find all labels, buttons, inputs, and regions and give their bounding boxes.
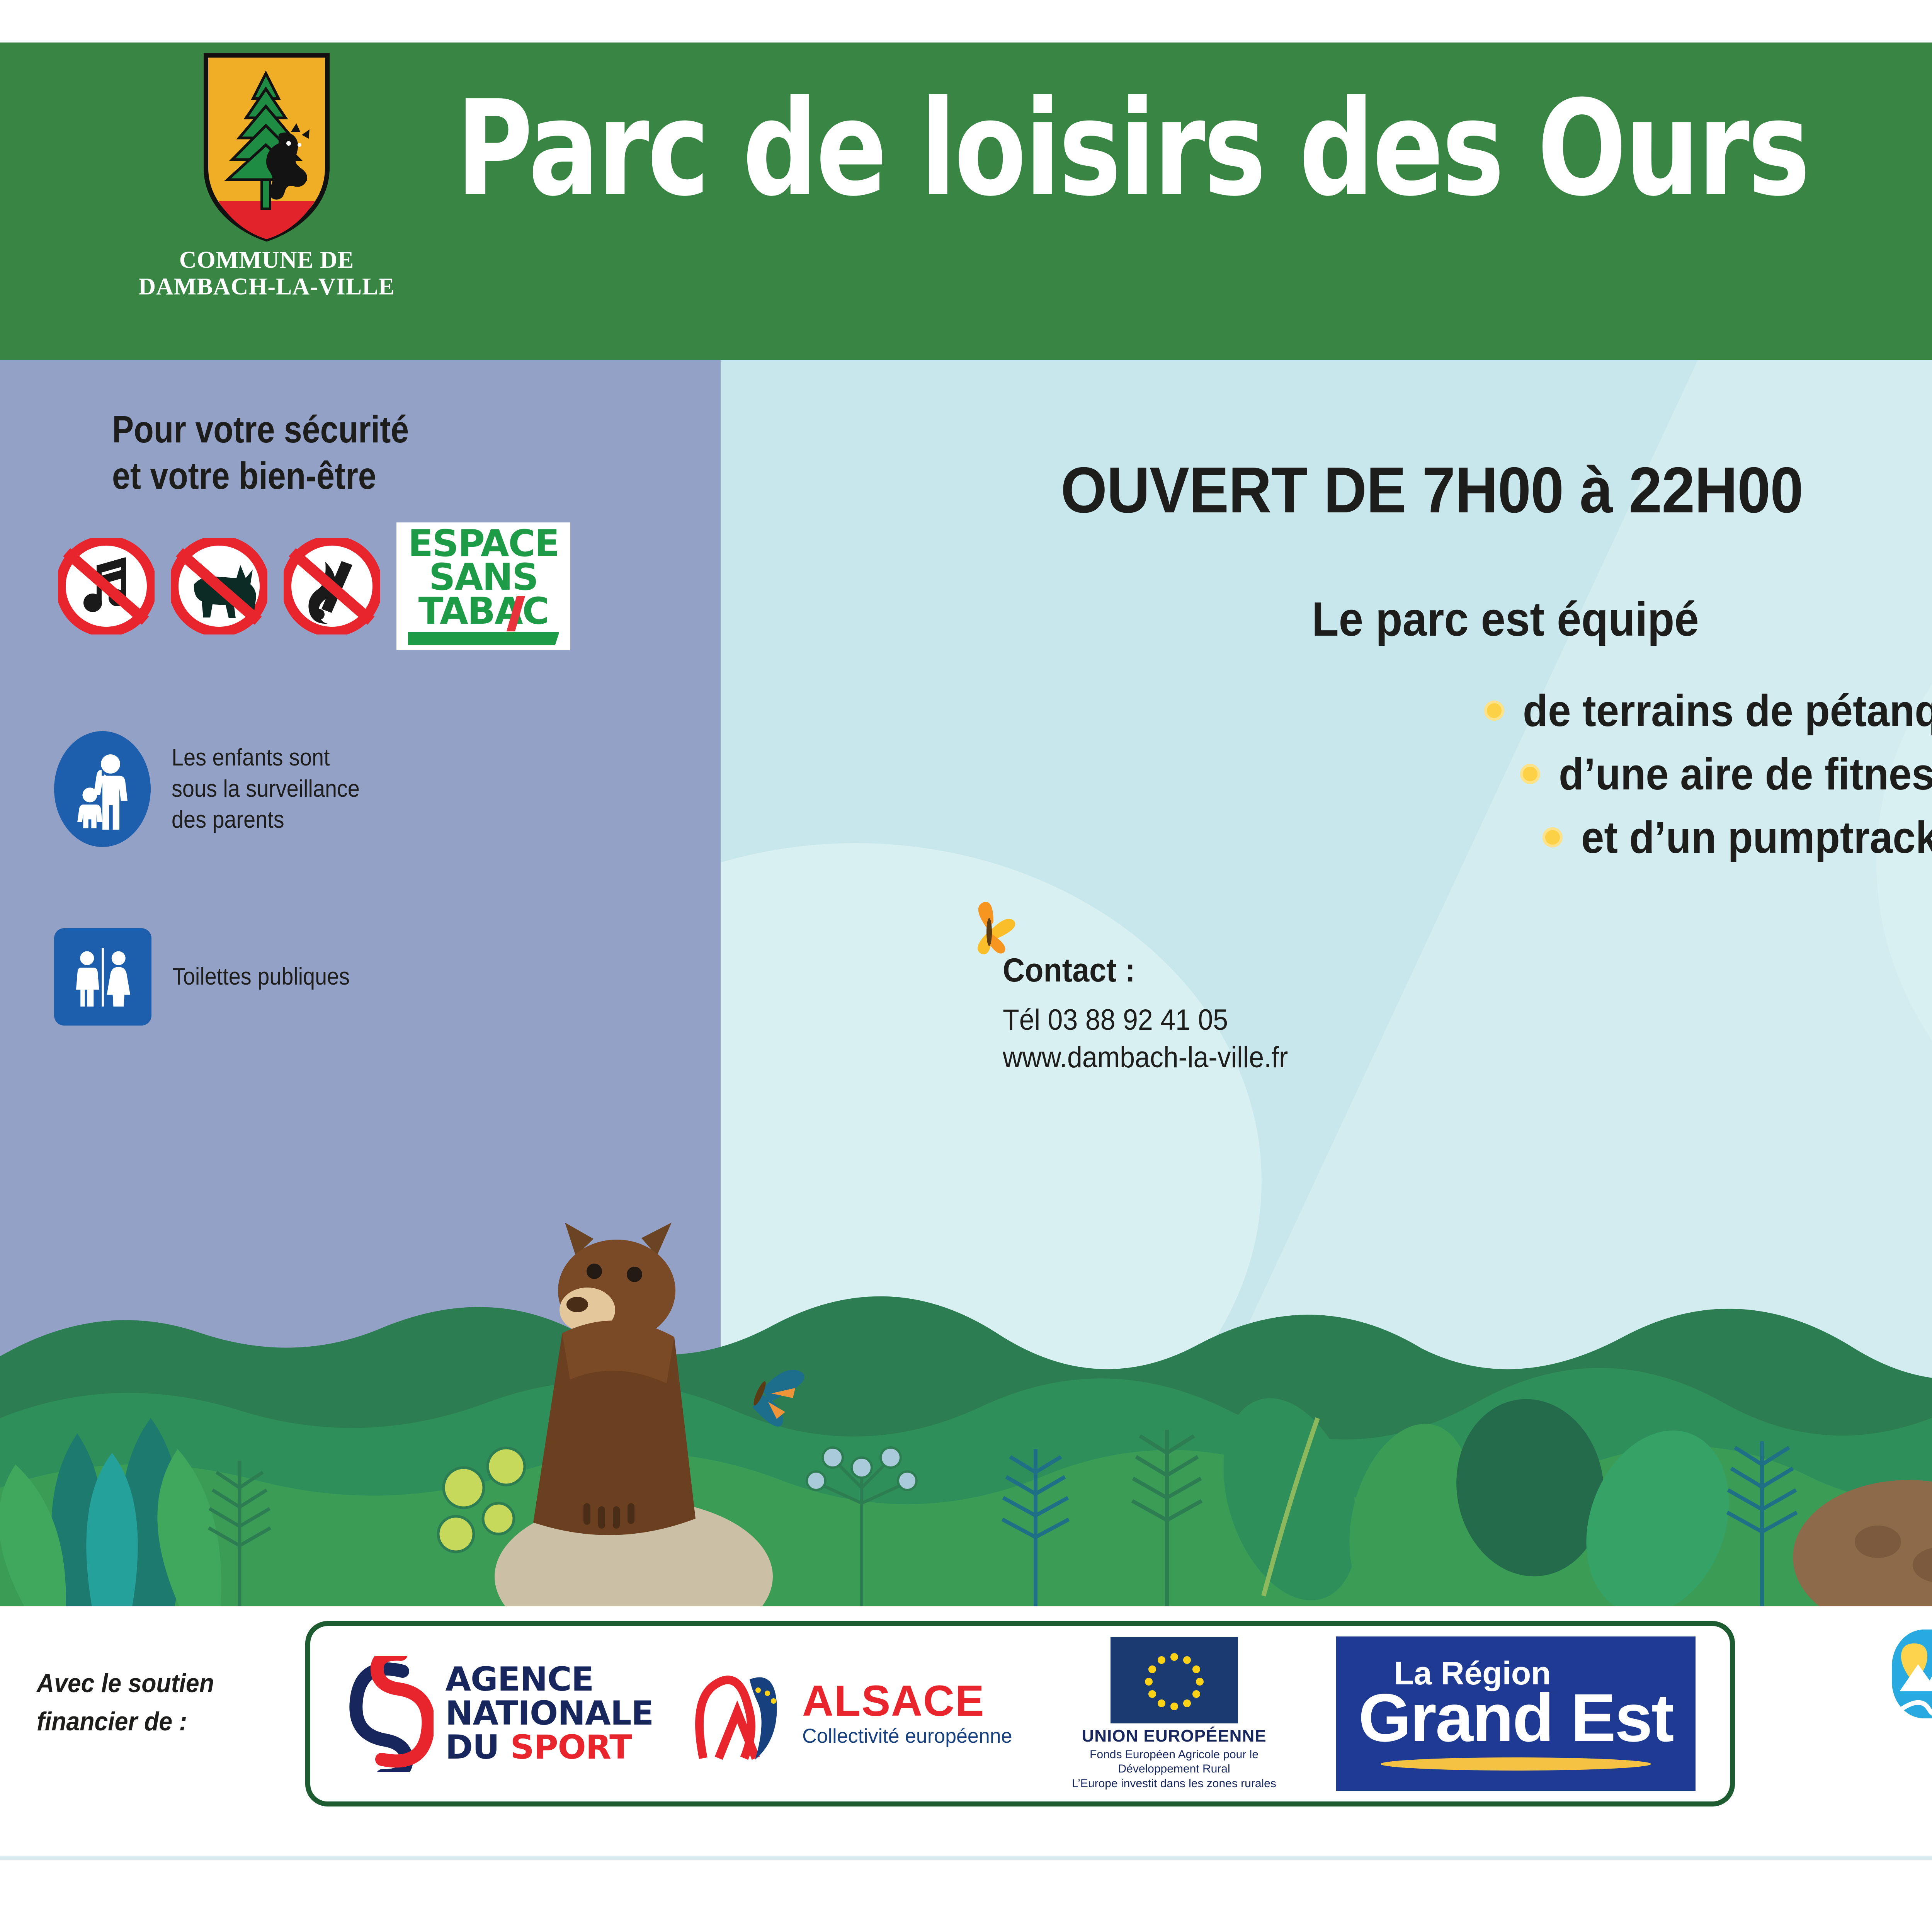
info-item-children-text: Les enfants sont sous la surveillance de… — [172, 742, 360, 836]
tabac-line-1: ESPACE — [408, 527, 559, 561]
ans-monogram-icon — [345, 1656, 434, 1772]
parent-and-child-icon — [54, 731, 151, 847]
poster-canvas: COMMUNE DE DAMBACH-LA-VILLE Parc de lois… — [0, 0, 1932, 1917]
sidebar-heading-line1: Pour votre sécurité — [112, 408, 409, 451]
children-text-line3: des parents — [172, 806, 284, 833]
intramuros-block: IntraMuros Restez connecté(e) à votre te… — [1859, 1630, 1932, 1752]
ans-line2: NATIONALE — [445, 1697, 653, 1731]
support-label: Avec le soutien financier de : — [37, 1664, 286, 1740]
ans-wordmark: AGENCE NATIONALE DU SPORT — [445, 1663, 653, 1764]
bear-sitting-icon — [533, 1223, 696, 1535]
ans-line1: AGENCE — [445, 1663, 653, 1697]
crest-label-line1: COMMUNE DE — [179, 247, 354, 273]
sidebar-heading-line2: et votre bien-être — [112, 454, 376, 497]
nature-illustration — [0, 985, 1932, 1611]
dambach-coat-of-arms-icon — [203, 52, 330, 242]
sidebar-heading: Pour votre sécurité et votre bien-être — [112, 407, 611, 499]
feature-label: d’une aire de fitness — [1559, 748, 1932, 800]
eu-sub-line2: L’Europe investit dans les zones rurales — [1072, 1777, 1276, 1790]
list-item: et d’un pumptrack — [1099, 811, 1932, 863]
equipment-title: Le parc est équipé — [1312, 592, 1699, 647]
bullet-dot-icon — [1484, 701, 1504, 721]
children-text-line2: sous la surveillance — [172, 776, 360, 802]
list-item: de terrains de pétanque — [1099, 685, 1932, 737]
no-dogs-icon — [171, 538, 267, 634]
tabac-line-2: SANS — [408, 561, 559, 594]
info-item-children: Les enfants sont sous la surveillance de… — [54, 731, 381, 847]
alsace-wordmark: ALSACE Collectivité européenne — [802, 1680, 1012, 1748]
eu-caption: UNION EUROPÉENNE — [1082, 1726, 1267, 1746]
sponsor-logo-box: AGENCE NATIONALE DU SPORT ALSACE Collect… — [305, 1621, 1735, 1806]
butterfly-orange-icon — [952, 897, 1026, 963]
commune-crest-label: COMMUNE DE DAMBACH-LA-VILLE — [138, 247, 395, 301]
contact-title: Contact : — [1003, 951, 1288, 990]
ans-line3-b: SPORT — [510, 1728, 632, 1767]
espace-sans-tabac-logo: ESPACE SANS TABAC — [396, 522, 570, 650]
eu-subcaption: Fonds Européen Agricole pour le Développ… — [1051, 1747, 1298, 1791]
eu-sub-line1: Fonds Européen Agricole pour le Développ… — [1090, 1748, 1259, 1776]
commune-crest-block: COMMUNE DE DAMBACH-LA-VILLE — [128, 52, 406, 346]
intramuros-app-icon — [1892, 1630, 1932, 1718]
region-grand-est-logo: La Région Grand Est — [1336, 1636, 1696, 1791]
children-text-line1: Les enfants sont — [172, 744, 330, 771]
bullet-dot-icon — [1520, 764, 1540, 784]
footer-bottom-strip — [0, 1860, 1932, 1917]
list-item: d’une aire de fitness — [1099, 748, 1932, 800]
page-title: Parc de loisirs des Ours — [456, 83, 1932, 269]
prohibition-icon-row: ESPACE SANS TABAC — [58, 522, 570, 650]
feature-label: et d’un pumptrack — [1581, 811, 1932, 863]
alsace-big: ALSACE — [802, 1680, 1012, 1722]
feature-list: de terrains de pétanque d’une aire de fi… — [1099, 685, 1932, 875]
footer: Avec le soutien financier de : AGENCE NA… — [0, 1606, 1932, 1856]
grand-est-wordmark: Grand Est — [1358, 1686, 1673, 1751]
tabac-line-3: TABAC — [408, 595, 559, 628]
no-fire-icon — [284, 538, 380, 634]
union-europeenne-logo: UNION EUROPÉENNE Fonds Européen Agricole… — [1051, 1637, 1298, 1791]
alsace-small: Collectivité européenne — [802, 1725, 1012, 1748]
footer-divider — [0, 1856, 1932, 1860]
bullet-dot-icon — [1543, 827, 1563, 847]
alsace-logo: ALSACE Collectivité européenne — [692, 1665, 1012, 1762]
support-line2: financier de : — [37, 1707, 187, 1736]
no-music-icon — [58, 538, 155, 634]
crest-label-line2: DAMBACH-LA-VILLE — [138, 274, 395, 300]
ans-line3-a: DU — [445, 1728, 510, 1767]
eu-flag-icon — [1111, 1637, 1238, 1723]
support-line1: Avec le soutien — [37, 1669, 214, 1698]
grand-est-swoosh-icon — [1381, 1757, 1651, 1771]
feature-label: de terrains de pétanque — [1523, 685, 1932, 737]
agence-nationale-du-sport-logo: AGENCE NATIONALE DU SPORT — [345, 1656, 653, 1772]
opening-hours: OUVERT DE 7H00 à 22H00 — [1061, 453, 1803, 527]
alsace-mark-icon — [692, 1665, 792, 1762]
